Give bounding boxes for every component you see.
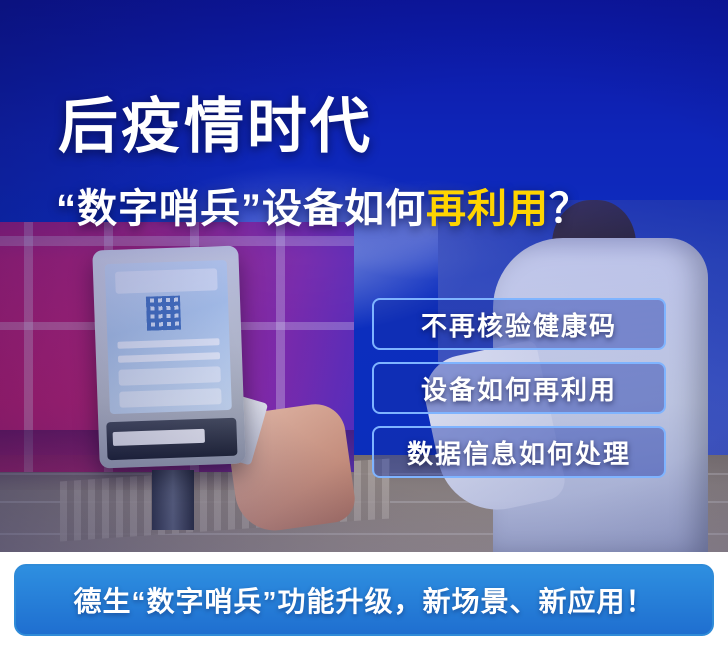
footer-text-pre: 德生“数字哨兵”功能升级: [73, 586, 393, 617]
key-point-2: 设备如何再利用: [372, 362, 666, 414]
key-point-3: 数据信息如何处理: [372, 426, 666, 478]
footer-band: 德生“数字哨兵”功能升级，新场景、新应用！: [0, 552, 728, 649]
key-point-3-label: 数据信息如何处理: [407, 434, 631, 471]
key-point-2-label: 设备如何再利用: [421, 370, 617, 407]
headline-subtitle: “数字哨兵”设备如何再利用？: [56, 176, 590, 234]
key-point-1-label: 不再核验健康码: [421, 306, 617, 343]
footer-text: 德生“数字哨兵”功能升级，新场景、新应用！: [73, 580, 654, 620]
footer-text-mid: ，新场景、新应用: [393, 586, 625, 617]
subtitle-lead: “数字哨兵”设备如何: [56, 187, 426, 231]
subtitle-highlight: 再利用: [426, 187, 549, 231]
key-point-1: 不再核验健康码: [372, 298, 666, 350]
poster-image: 后疫情时代 “数字哨兵”设备如何再利用？ 不再核验健康码 设备如何再利用 数据信…: [0, 0, 728, 649]
footer-banner: 德生“数字哨兵”功能升级，新场景、新应用！: [14, 564, 714, 636]
footer-text-end: ！: [626, 586, 655, 617]
subtitle-tail: ？: [549, 187, 590, 231]
headline-title: 后疫情时代: [58, 78, 373, 165]
